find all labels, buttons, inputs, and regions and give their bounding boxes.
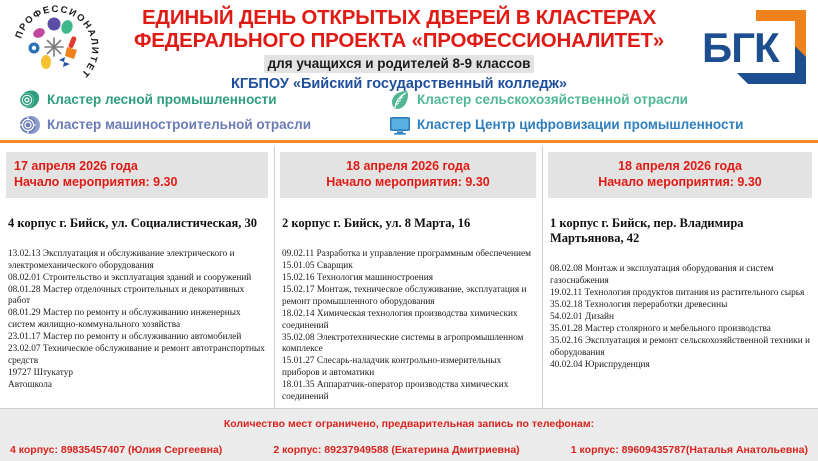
program-item: 19727 Штукатур [8,368,266,380]
poster-audience-subtitle: для учащихся и родителей 8-9 классов [264,55,535,73]
event-date-3: 18 апреля 2026 года [556,159,804,175]
program-item: 40.02.04 Юриспруденция [550,360,810,372]
cluster-item-digitalization: Кластер Центр цифровизации промышленност… [388,113,743,137]
event-start-time-3: Начало мероприятия: 9.30 [556,175,804,191]
footer-note: Количество мест ограничено, предваритель… [0,409,818,431]
program-item: 08.01.29 Мастер по ремонту и обслуживани… [8,308,266,331]
poster-title-block: ЕДИНЫЙ ДЕНЬ ОТКРЫТЫХ ДВЕРЕЙ В КЛАСТЕРАХ … [104,6,694,93]
program-item: 08.02.01 Строительство и эксплуатация зд… [8,273,266,285]
bgk-logo: БГК [694,6,812,92]
program-list-1: 13.02.13 Эксплуатация и обслуживание эле… [6,249,268,392]
header-divider [0,140,818,143]
cluster-label-digitalization: Кластер Центр цифровизации промышленност… [417,117,743,133]
poster-title-line-1: ЕДИНЫЙ ДЕНЬ ОТКРЫТЫХ ДВЕРЕЙ В КЛАСТЕРАХ [104,6,694,29]
program-item: 35.02.08 Электротехнические системы в аг… [282,333,534,356]
program-item: 23.02.07 Техническое обслуживание и ремо… [8,344,266,367]
program-list-2: 09.02.11 Разработка и управление програм… [280,249,536,403]
cluster-list: Кластер лесной промышленности Кла [0,88,818,140]
cluster-item-agriculture: Кластер сельскохозяйственной отрасли [388,88,688,112]
poster-title-line-2: ФЕДЕРАЛЬНОГО ПРОЕКТА «ПРОФЕССИОНАЛИТЕТ» [104,29,694,52]
footer-phone-list: 4 корпус: 89835457407 (Юлия Сергеевна) 2… [0,431,818,457]
event-column-1: 17 апреля 2026 года Начало мероприятия: … [0,146,274,408]
program-item: 15.01.05 Сварщик [282,261,534,273]
event-start-time-1: Начало мероприятия: 9.30 [14,175,260,191]
program-item: 35.01.28 Мастер столярного и мебельного … [550,324,810,336]
footer-phone-building-4: 4 корпус: 89835457407 (Юлия Сергеевна) [10,444,222,457]
event-column-2: 18 апреля 2026 года Начало мероприятия: … [274,146,542,408]
event-address-1: 4 корпус г. Бийск, ул. Социалистическая,… [6,216,268,231]
event-date-banner-2: 18 апреля 2026 года Начало мероприятия: … [280,152,536,198]
bgk-logo-text: БГК [702,24,780,71]
event-date-banner-1: 17 апреля 2026 года Начало мероприятия: … [6,152,268,198]
event-date-banner-3: 18 апреля 2026 года Начало мероприятия: … [548,152,812,198]
footer-phone-building-1: 1 корпус: 89609435787(Наталья Анатольевн… [571,444,808,457]
program-item: 15.01.27 Слесарь-наладчик контрольно-изм… [282,356,534,379]
events-columns: 17 апреля 2026 года Начало мероприятия: … [0,146,818,408]
event-date-1: 17 апреля 2026 года [14,159,260,175]
program-item: 08.02.08 Монтаж и эксплуатация оборудова… [550,264,810,287]
program-item: 54.02.01 Дизайн [550,312,810,324]
program-item: Автошкола [8,380,266,392]
program-item: 08.01.28 Мастер отделочных строительных … [8,285,266,308]
program-item: 15.02.16 Технология машиностроения [282,273,534,285]
digitalization-cluster-icon [388,113,412,137]
cluster-label-agriculture: Кластер сельскохозяйственной отрасли [417,92,688,108]
footer-phone-building-2: 2 корпус: 89237949588 (Екатерина Дмитрие… [273,444,519,457]
program-item: 23.01.17 Мастер по ремонту и обслуживани… [8,332,266,344]
poster-header: ПРОФЕССИОНАЛИТЕТ БГК [0,0,818,143]
professionalitet-logo: ПРОФЕССИОНАЛИТЕТ [10,2,102,94]
program-list-3: 08.02.08 Монтаж и эксплуатация оборудова… [548,264,812,371]
program-item: 35.02.18 Технология переработки древесин… [550,300,810,312]
machinery-cluster-icon [18,113,42,137]
event-start-time-2: Начало мероприятия: 9.30 [288,175,528,191]
cluster-label-forest: Кластер лесной промышленности [47,92,277,108]
cluster-label-machinery: Кластер машиностроительной отрасли [47,117,311,133]
event-column-3: 18 апреля 2026 года Начало мероприятия: … [542,146,818,408]
cluster-item-forest: Кластер лесной промышленности [18,88,277,112]
program-item: 35.02.16 Эксплуатация и ремонт сельскохо… [550,336,810,359]
svg-text:ПРОФЕССИОНАЛИТЕТ: ПРОФЕССИОНАЛИТЕТ [13,4,100,80]
program-item: 18.01.35 Аппаратчик-оператор производств… [282,380,534,403]
poster-footer: Количество мест ограничено, предваритель… [0,408,818,461]
program-item: 09.02.11 Разработка и управление програм… [282,249,534,261]
event-address-3: 1 корпус г. Бийск, пер. Владимира Мартья… [548,216,812,246]
program-item: 13.02.13 Эксплуатация и обслуживание эле… [8,249,266,272]
program-item: 18.02.14 Химическая технология производс… [282,309,534,332]
forest-cluster-icon [18,88,42,112]
cluster-item-machinery: Кластер машиностроительной отрасли [18,113,311,137]
agriculture-cluster-icon [388,88,412,112]
program-item: 15.02.17 Монтаж, техническое обслуживани… [282,285,534,308]
event-address-2: 2 корпус г. Бийск, ул. 8 Марта, 16 [280,216,536,231]
event-date-2: 18 апреля 2026 года [288,159,528,175]
program-item: 19.02.11 Технология продуктов питания из… [550,288,810,300]
